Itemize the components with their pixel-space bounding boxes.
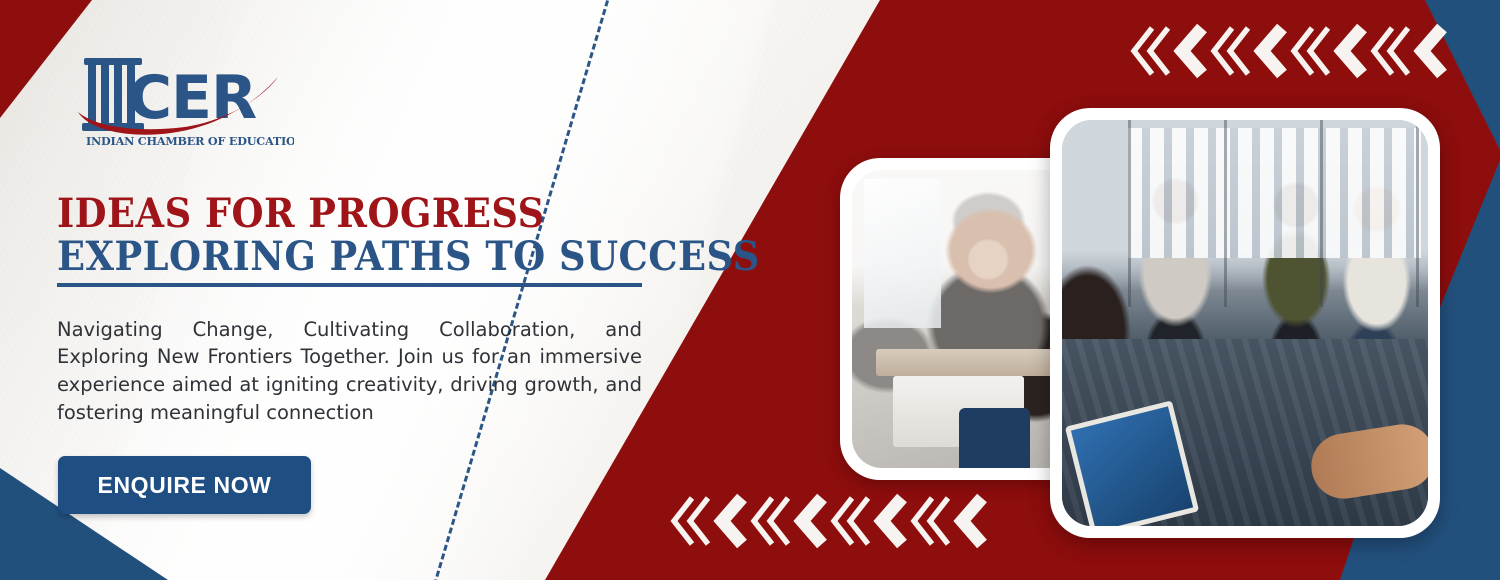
chevron-single-solid-icon bbox=[868, 492, 912, 550]
headline-line-1: IDEAS FOR PROGRESS bbox=[57, 192, 609, 235]
photo-group-discussion bbox=[1062, 120, 1428, 526]
photo-group-discussion-image bbox=[1062, 120, 1428, 526]
chevron-double-outline-icon bbox=[1128, 22, 1172, 80]
enquire-now-button[interactable]: ENQUIRE NOW bbox=[58, 456, 311, 514]
chevron-single-solid-icon bbox=[948, 492, 992, 550]
window-mullions bbox=[1128, 120, 1421, 307]
window-light bbox=[864, 179, 941, 328]
chevron-single-solid-icon bbox=[1408, 22, 1452, 80]
chevron-strip-bottom bbox=[668, 492, 988, 550]
chevron-double-outline-icon bbox=[908, 492, 952, 550]
chevron-double-outline-icon bbox=[748, 492, 792, 550]
chevron-double-outline-icon bbox=[828, 492, 872, 550]
chevron-single-solid-icon bbox=[708, 492, 752, 550]
headline-block: IDEAS FOR PROGRESS EXPLORING PATHS TO SU… bbox=[57, 192, 657, 287]
description-paragraph: Navigating Change, Cultivating Collabora… bbox=[57, 316, 642, 427]
promo-banner: CER INDIAN CHAMBER OF EDUCATION & RESEAR… bbox=[0, 0, 1500, 580]
chevron-double-outline-icon bbox=[1208, 22, 1252, 80]
svg-text:CER: CER bbox=[128, 63, 256, 133]
logo-tagline: INDIAN CHAMBER OF EDUCATION & RESEARCH bbox=[86, 134, 294, 148]
icer-logo[interactable]: CER INDIAN CHAMBER OF EDUCATION & RESEAR… bbox=[72, 52, 294, 150]
chevron-single-solid-icon bbox=[788, 492, 832, 550]
chevron-single-solid-icon bbox=[1328, 22, 1372, 80]
photo-card-right bbox=[1050, 108, 1440, 538]
cer-letters: CER bbox=[128, 63, 256, 133]
chevron-strip-top bbox=[1128, 22, 1448, 80]
headline-line-2: EXPLORING PATHS TO SUCCESS bbox=[57, 235, 609, 278]
chevron-double-outline-icon bbox=[1368, 22, 1412, 80]
chevron-single-solid-icon bbox=[1248, 22, 1292, 80]
headline-underline bbox=[57, 283, 642, 287]
chevron-double-outline-icon bbox=[668, 492, 712, 550]
chair-back bbox=[959, 408, 1030, 468]
chevron-single-solid-icon bbox=[1168, 22, 1212, 80]
chevron-double-outline-icon bbox=[1288, 22, 1332, 80]
